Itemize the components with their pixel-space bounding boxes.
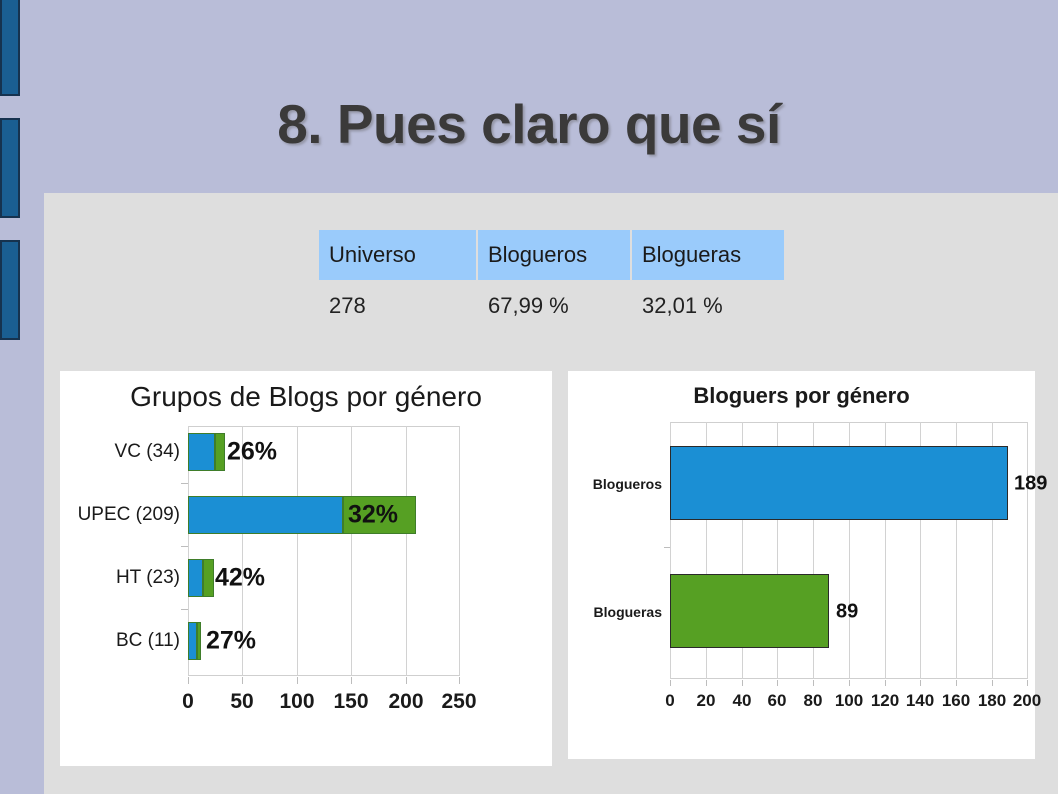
table-header-blogueros: Blogueros xyxy=(478,230,630,280)
axis-tick-label: 40 xyxy=(733,691,752,711)
summary-table: Universo Blogueros Blogueras 278 67,99 %… xyxy=(317,228,786,331)
axis-tick-label: 200 xyxy=(388,690,423,714)
plot-area xyxy=(670,422,1028,679)
tick-mark xyxy=(742,680,743,686)
axis-tick-label: 0 xyxy=(665,691,674,711)
category-label: BC (11) xyxy=(68,630,180,652)
tick-mark xyxy=(351,677,352,684)
category-label: UPEC (209) xyxy=(60,504,180,526)
axis-tick-label: 120 xyxy=(871,691,899,711)
tick-mark xyxy=(777,680,778,686)
tick-mark xyxy=(1027,680,1028,686)
tick-mark xyxy=(297,677,298,684)
tick-mark xyxy=(920,680,921,686)
axis-tick-label: 60 xyxy=(768,691,787,711)
gridline xyxy=(1027,422,1028,679)
axis-tick-label: 0 xyxy=(182,690,194,714)
table-header-row: Universo Blogueros Blogueras xyxy=(319,230,784,280)
gridline xyxy=(351,426,352,676)
tick-mark xyxy=(849,680,850,686)
axis-tick-label: 150 xyxy=(333,690,368,714)
bar-segment-blogueros xyxy=(188,496,343,534)
axis-tick-label: 100 xyxy=(279,690,314,714)
bar-segment-blogueras xyxy=(203,559,214,597)
slide: 8. Pues claro que sí Universo Blogueros … xyxy=(0,0,1058,794)
table-header-blogueras: Blogueras xyxy=(632,230,784,280)
axis-tick-label: 180 xyxy=(978,691,1006,711)
tick-mark xyxy=(181,483,188,484)
tick-mark xyxy=(459,677,460,684)
value-label: 27% xyxy=(206,627,256,656)
category-label: VC (34) xyxy=(68,441,180,463)
tick-mark xyxy=(992,680,993,686)
tick-mark xyxy=(670,680,671,686)
bar-blogueras xyxy=(670,574,829,648)
plot-top-rule xyxy=(188,426,460,427)
category-label: Blogueros xyxy=(568,476,662,492)
value-label: 32% xyxy=(348,501,398,530)
decoration-bar-1 xyxy=(0,0,20,96)
tick-mark xyxy=(664,547,670,548)
axis-tick-label: 100 xyxy=(835,691,863,711)
tick-mark xyxy=(706,680,707,686)
axis-tick-label: 250 xyxy=(441,690,476,714)
chart-title: Bloguers por género xyxy=(568,383,1035,409)
bar-blogueros xyxy=(670,446,1008,520)
table-cell-blogueras: 32,01 % xyxy=(632,282,784,329)
bar-segment-blogueras xyxy=(197,622,201,660)
gridline xyxy=(459,426,460,676)
gridline xyxy=(297,426,298,676)
tick-mark xyxy=(813,680,814,686)
axis-tick-label: 80 xyxy=(804,691,823,711)
axis-tick-label: 50 xyxy=(230,690,253,714)
axis-tick-label: 200 xyxy=(1013,691,1041,711)
axis-tick-label: 140 xyxy=(906,691,934,711)
value-label: 89 xyxy=(836,601,858,624)
category-label: HT (23) xyxy=(68,567,180,589)
tick-mark xyxy=(181,546,188,547)
value-label: 42% xyxy=(215,564,265,593)
table-cell-blogueros: 67,99 % xyxy=(478,282,630,329)
bar-segment-blogueros xyxy=(188,559,203,597)
value-label: 189 xyxy=(1014,473,1047,496)
axis-tick-label: 160 xyxy=(942,691,970,711)
tick-mark xyxy=(188,677,189,684)
axis-tick-label: 20 xyxy=(697,691,716,711)
plot-bottom-rule xyxy=(188,675,460,676)
chart-bloguers-por-genero: Bloguers por género xyxy=(568,371,1035,759)
category-label: Blogueras xyxy=(568,604,662,620)
content-panel: Universo Blogueros Blogueras 278 67,99 %… xyxy=(44,193,1058,794)
bar-segment-blogueros xyxy=(188,622,197,660)
chart-title: Grupos de Blogs por género xyxy=(60,381,552,413)
table-cell-universo: 278 xyxy=(319,282,476,329)
table-row: 278 67,99 % 32,01 % xyxy=(319,282,784,329)
bar-segment-blogueras xyxy=(215,433,225,471)
table-header-universo: Universo xyxy=(319,230,476,280)
chart-grupos-de-blogs-por-genero: Grupos de Blogs por género xyxy=(60,371,552,766)
decoration-bar-3 xyxy=(0,240,20,340)
tick-mark xyxy=(885,680,886,686)
tick-mark xyxy=(956,680,957,686)
gridline xyxy=(406,426,407,676)
tick-mark xyxy=(181,609,188,610)
tick-mark xyxy=(406,677,407,684)
page-title: 8. Pues claro que sí xyxy=(0,92,1058,156)
bar-segment-blogueros xyxy=(188,433,215,471)
tick-mark xyxy=(242,677,243,684)
value-label: 26% xyxy=(227,438,277,467)
